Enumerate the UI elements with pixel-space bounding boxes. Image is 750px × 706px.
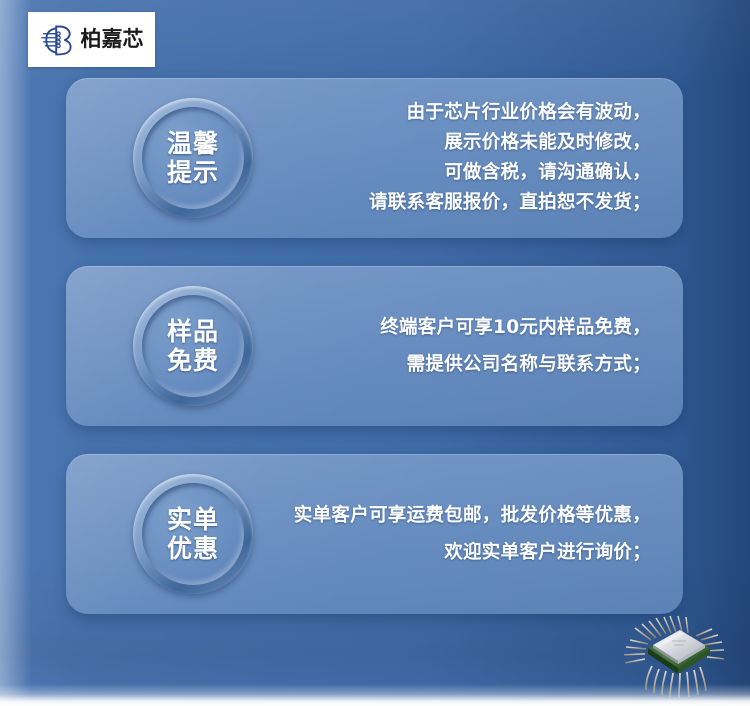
info-card-free-sample: 样品 免费 终端客户可享10元内样品免费， 需提供公司名称与联系方式； xyxy=(66,266,683,426)
card-text-line: 请联系客服报价，直拍恕不发货； xyxy=(369,188,651,218)
circuit-b-logo-icon xyxy=(40,22,76,58)
badge-label-line2: 优惠 xyxy=(167,534,219,564)
card-text-line: 终端客户可享10元内样品免费， xyxy=(380,309,651,346)
brand-logo: 柏嘉芯 xyxy=(28,12,155,67)
card-text-block: 由于芯片行业价格会有波动， 展示价格未能及时修改， 可做含税，请沟通确认， 请联… xyxy=(369,78,651,238)
info-card-warm-reminder: 温馨 提示 由于芯片行业价格会有波动， 展示价格未能及时修改， 可做含税，请沟通… xyxy=(66,78,683,238)
card-text-block: 终端客户可享10元内样品免费， 需提供公司名称与联系方式； xyxy=(380,266,651,426)
promo-banner: 柏嘉芯 温馨 提示 由于芯片行业价格会有波动， 展示价格未能及时修改， 可做含税… xyxy=(0,0,750,706)
badge-label-line1: 样品 xyxy=(167,317,219,347)
badge-inner: 样品 免费 xyxy=(142,295,244,397)
badge-label-line1: 实单 xyxy=(167,505,219,535)
badge-label-line2: 提示 xyxy=(167,158,219,188)
card-text-line: 实单客户可享运费包邮，批发价格等优惠， xyxy=(294,497,651,534)
card-text-line: 展示价格未能及时修改， xyxy=(444,128,651,158)
card-text-line: 需提供公司名称与联系方式； xyxy=(407,346,651,383)
background-left-sheen xyxy=(0,0,30,706)
card-text-line: 由于芯片行业价格会有波动， xyxy=(407,98,651,128)
card-text-block: 实单客户可享运费包邮，批发价格等优惠， 欢迎实单客户进行询价； xyxy=(294,454,651,614)
badge-inner: 温馨 提示 xyxy=(142,107,244,209)
badge-label-line2: 免费 xyxy=(167,346,219,376)
card-text-line: 欢迎实单客户进行询价； xyxy=(444,534,651,571)
badge-label-line1: 温馨 xyxy=(167,129,219,159)
background-right-shadow xyxy=(676,0,750,706)
badge-warm-reminder: 温馨 提示 xyxy=(133,98,253,218)
badge-inner: 实单 优惠 xyxy=(142,483,244,585)
brand-name: 柏嘉芯 xyxy=(81,29,144,50)
bottom-fade xyxy=(0,684,750,706)
card-text-line: 可做含税，请沟通确认， xyxy=(444,158,651,188)
badge-real-order-discount: 实单 优惠 xyxy=(133,474,253,594)
badge-free-sample: 样品 免费 xyxy=(133,286,253,406)
info-card-real-order-discount: 实单 优惠 实单客户可享运费包邮，批发价格等优惠， 欢迎实单客户进行询价； xyxy=(66,454,683,614)
